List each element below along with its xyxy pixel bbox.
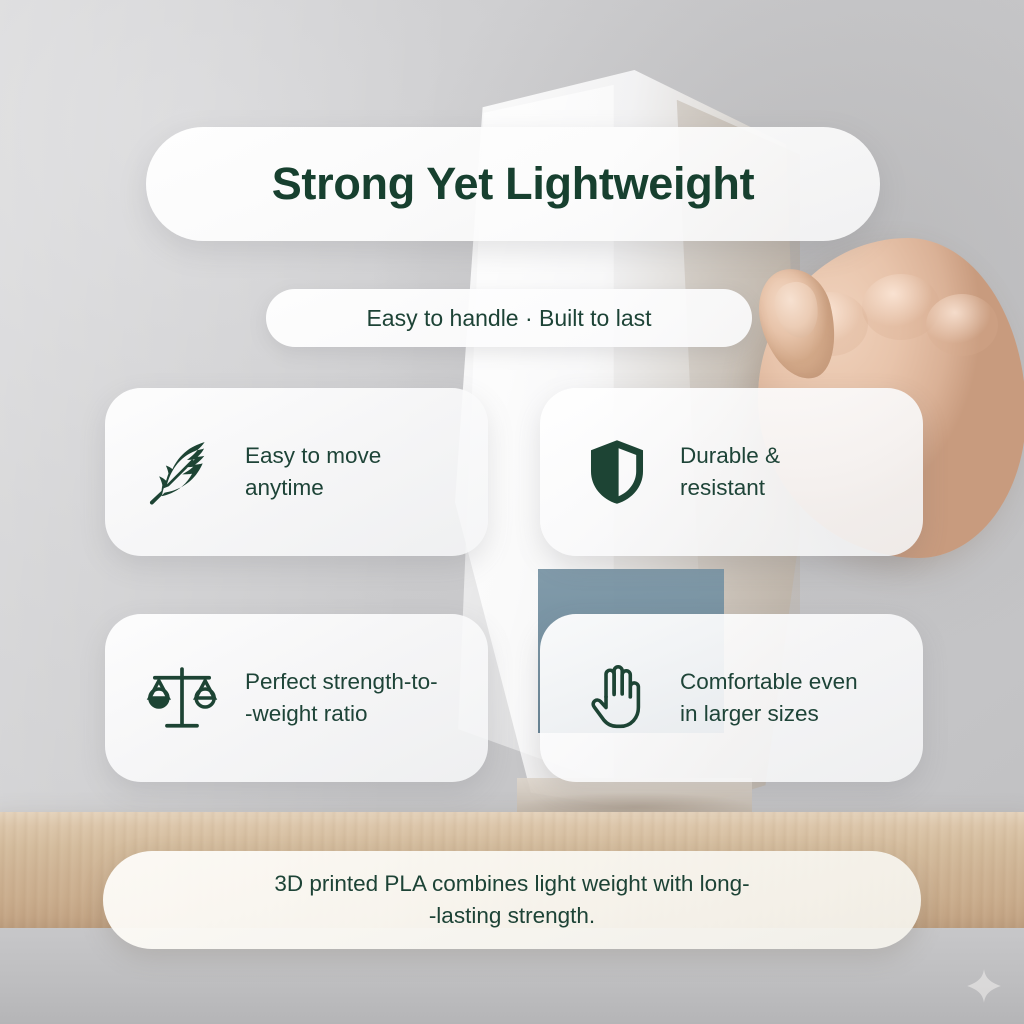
feature-card-easy-to-move[interactable]: Easy to move anytime bbox=[105, 388, 488, 556]
feather-icon bbox=[145, 435, 219, 509]
page-title: Strong Yet Lightweight bbox=[272, 158, 755, 210]
feature-card-label: Perfect strength-to- -weight ratio bbox=[245, 666, 438, 730]
feature-card-durable[interactable]: Durable & resistant bbox=[540, 388, 923, 556]
feature-card-strength-ratio[interactable]: Perfect strength-to- -weight ratio bbox=[105, 614, 488, 782]
feature-card-grid: Easy to move anytime Durable & resistant bbox=[105, 388, 923, 782]
feature-card-label: Easy to move anytime bbox=[245, 440, 381, 504]
feature-card-label: Comfortable even in larger sizes bbox=[680, 666, 858, 730]
shield-icon bbox=[580, 435, 654, 509]
hand-icon bbox=[580, 661, 654, 735]
page-subtitle: Easy to handle · Built to last bbox=[366, 305, 651, 332]
title-pill: Strong Yet Lightweight bbox=[146, 127, 880, 241]
product-feature-infographic: Strong Yet Lightweight Easy to handle · … bbox=[0, 0, 1024, 1024]
feature-card-comfortable[interactable]: Comfortable even in larger sizes bbox=[540, 614, 923, 782]
footer-text: 3D printed PLA combines light weight wit… bbox=[230, 868, 793, 932]
subtitle-pill: Easy to handle · Built to last bbox=[266, 289, 752, 347]
sparkle-icon bbox=[966, 968, 1002, 1004]
footer-pill: 3D printed PLA combines light weight wit… bbox=[103, 851, 921, 949]
knuckle bbox=[926, 294, 998, 356]
feature-card-label: Durable & resistant bbox=[680, 440, 780, 504]
balance-scale-icon bbox=[145, 661, 219, 735]
